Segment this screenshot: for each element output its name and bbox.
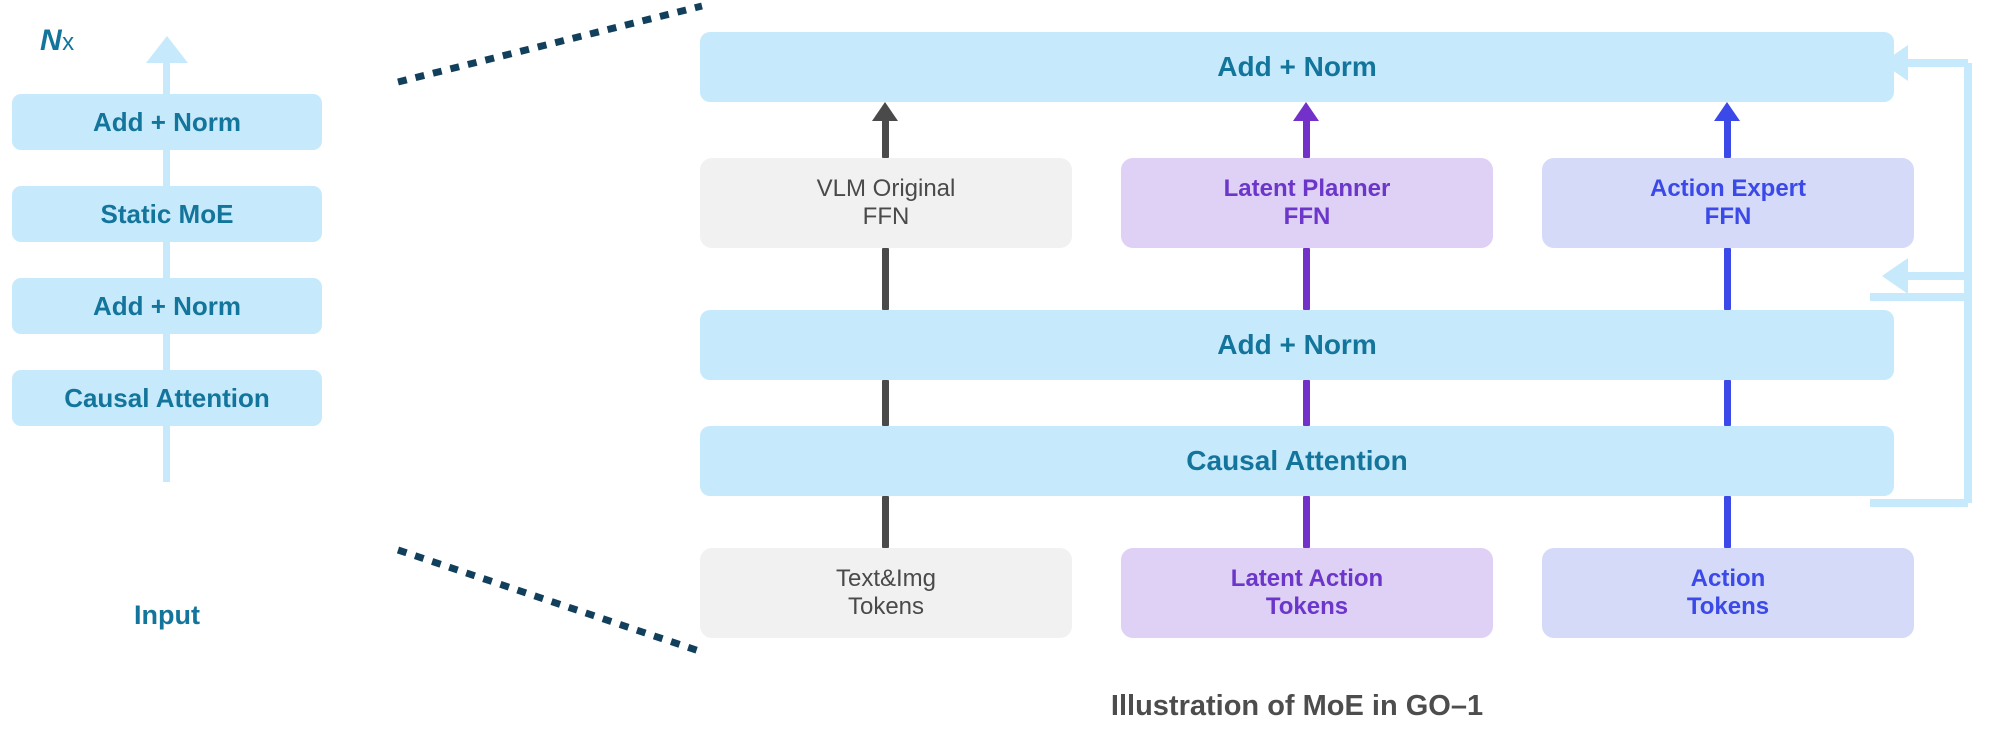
right-bar-add-norm-middle: Add + Norm (700, 310, 1894, 380)
left-block-add-norm-bottom: Add + Norm (12, 278, 322, 334)
ffn-box-latent-planner: Latent Planner FFN (1121, 158, 1493, 248)
left-connector-3 (163, 334, 170, 370)
attention-to-addnorm-line-2 (1724, 380, 1731, 426)
tokens-to-attention-line-2 (1724, 496, 1731, 548)
left-output-arrowhead (146, 36, 188, 63)
residual-skip-2-bottom-horizontal (1870, 499, 1968, 507)
right-bar-add-norm-top: Add + Norm (700, 32, 1894, 102)
left-block-add-norm-top: Add + Norm (12, 94, 322, 150)
ffn-to-addnorm-line-2 (1724, 120, 1731, 158)
right-bar-causal-attention: Causal Attention (700, 426, 1894, 496)
repeat-count-x: x (62, 29, 75, 56)
residual-skip-1-vertical (1964, 63, 1972, 297)
left-connector-1 (163, 150, 170, 186)
tokens-to-attention-line-1 (1303, 496, 1310, 548)
residual-skip-1-arrowhead (1882, 45, 1908, 81)
repeat-count-label: Nx (40, 24, 75, 58)
residual-skip-1-top-horizontal (1906, 59, 1968, 67)
token-box-action: Action Tokens (1542, 548, 1914, 638)
left-connector-2 (163, 242, 170, 278)
expansion-dotted-line-bottom (390, 540, 710, 660)
diagram-canvas: Nx Add + Norm Static MoE Add + Norm Caus… (0, 0, 2014, 748)
residual-skip-1-bottom-horizontal (1870, 293, 1968, 301)
token-box-text-img: Text&Img Tokens (700, 548, 1072, 638)
addnorm-to-ffn-line-2 (1724, 248, 1731, 310)
addnorm-to-ffn-line-0 (882, 248, 889, 310)
left-block-static-moe: Static MoE (12, 186, 322, 242)
repeat-count-n: N (40, 24, 62, 57)
residual-skip-2-top-horizontal (1906, 272, 1968, 280)
token-box-latent-action: Latent Action Tokens (1121, 548, 1493, 638)
figure-caption: Illustration of MoE in GO–1 (700, 690, 1894, 723)
ffn-to-addnorm-arrow-1 (1293, 102, 1319, 121)
ffn-to-addnorm-arrow-2 (1714, 102, 1740, 121)
attention-to-addnorm-line-0 (882, 380, 889, 426)
residual-skip-2-arrowhead (1882, 258, 1908, 294)
ffn-to-addnorm-line-0 (882, 120, 889, 158)
ffn-to-addnorm-arrow-0 (872, 102, 898, 121)
residual-skip-2-vertical (1964, 276, 1972, 503)
expansion-dotted-line-top (390, 0, 710, 90)
input-label: Input (12, 600, 322, 631)
left-input-line (163, 426, 170, 482)
attention-to-addnorm-line-1 (1303, 380, 1310, 426)
ffn-to-addnorm-line-1 (1303, 120, 1310, 158)
tokens-to-attention-line-0 (882, 496, 889, 548)
left-block-causal-attention: Causal Attention (12, 370, 322, 426)
ffn-box-vlm-original: VLM Original FFN (700, 158, 1072, 248)
addnorm-to-ffn-line-1 (1303, 248, 1310, 310)
ffn-box-action-expert: Action Expert FFN (1542, 158, 1914, 248)
